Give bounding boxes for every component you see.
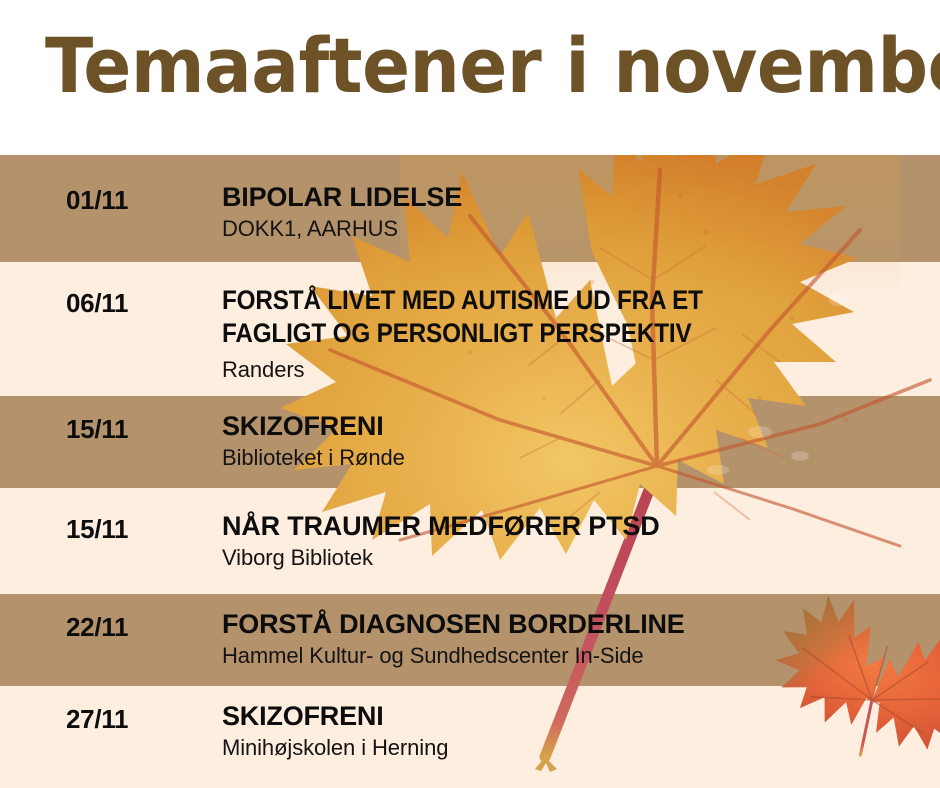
event-title: SKIZOFRENI — [222, 410, 940, 443]
event-place: Minihøjskolen i Herning — [222, 734, 940, 762]
event-title: BIPOLAR LIDELSE — [222, 181, 940, 214]
event-place: Biblioteket i Rønde — [222, 444, 940, 472]
event-date: 15/11 — [66, 414, 128, 445]
event-date: 27/11 — [66, 704, 128, 735]
page-title: Temaaftener i november — [45, 24, 940, 108]
list-item[interactable]: 15/11 SKIZOFRENI Biblioteket i Rønde — [0, 396, 940, 488]
event-place: DOKK1, AARHUS — [222, 215, 940, 243]
event-date: 06/11 — [66, 288, 128, 319]
event-title-line-2: FAGLIGT OG PERSONLIGT PERSPEKTIV — [222, 317, 868, 350]
list-item[interactable]: 01/11 BIPOLAR LIDELSE DOKK1, AARHUS — [0, 155, 940, 262]
list-item[interactable]: 06/11 FORSTÅ LIVET MED AUTISME UD FRA ET… — [0, 262, 940, 396]
event-title: FORSTÅ DIAGNOSEN BORDERLINE — [222, 608, 940, 641]
event-title: NÅR TRAUMER MEDFØRER PTSD — [222, 510, 940, 543]
event-date: 22/11 — [66, 612, 128, 643]
event-place: Hammel Kultur- og Sundhedscenter In-Side — [222, 642, 940, 670]
event-place: Viborg Bibliotek — [222, 544, 940, 572]
poster-header: Temaaftener i november — [0, 0, 940, 155]
event-title-line-1: FORSTÅ LIVET MED AUTISME UD FRA ET — [222, 284, 868, 317]
event-date: 15/11 — [66, 514, 128, 545]
list-item[interactable]: 22/11 FORSTÅ DIAGNOSEN BORDERLINE Hammel… — [0, 594, 940, 686]
event-title: SKIZOFRENI — [222, 700, 940, 733]
event-place: Randers — [222, 356, 940, 384]
list-item[interactable]: 27/11 SKIZOFRENI Minihøjskolen i Herning — [0, 686, 940, 788]
list-item[interactable]: 15/11 NÅR TRAUMER MEDFØRER PTSD Viborg B… — [0, 488, 940, 594]
poster-canvas: Temaaftener i november 01/11 BIPOLAR LID… — [0, 0, 940, 788]
event-date: 01/11 — [66, 185, 128, 216]
